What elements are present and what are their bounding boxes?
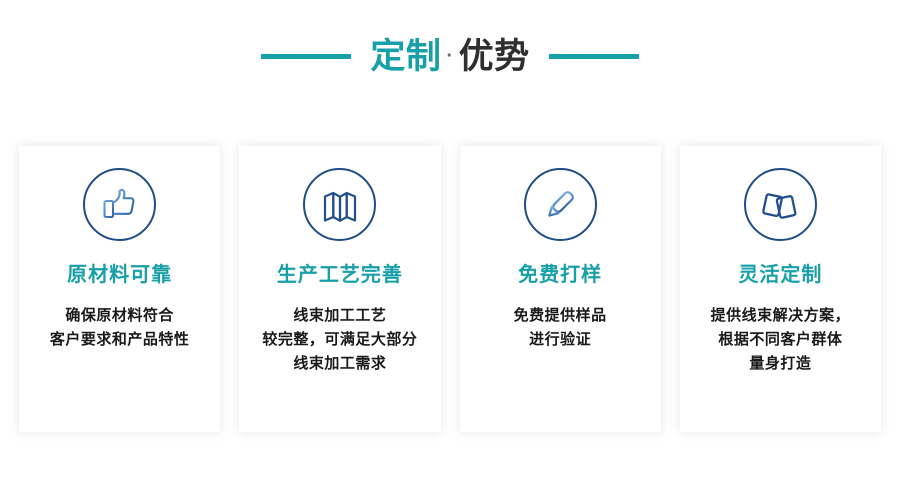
advantage-card-title: 免费打样 [518, 265, 602, 285]
advantage-card-title: 原材料可靠 [67, 265, 172, 285]
folded-map-icon [303, 168, 376, 241]
pencil-icon [524, 168, 597, 241]
page-title-separator: · [441, 46, 458, 66]
advantage-card-title: 生产工艺完善 [277, 265, 403, 285]
page-title-dark: 优势 [459, 39, 530, 74]
advantage-card[interactable]: 灵活定制 提供线束解决方案， 根据不同客户群体 量身打造 [680, 146, 881, 432]
advantage-card[interactable]: 免费打样 免费提供样品 进行验证 [460, 146, 661, 432]
advantage-card-body-line: 量身打造 [711, 352, 851, 376]
rule-left-decoration [261, 54, 351, 59]
advantage-card-body: 免费提供样品 进行验证 [514, 304, 607, 352]
advantage-card-body-line: 客户要求和产品特性 [50, 328, 190, 352]
advantage-card-body: 确保原材料符合 客户要求和产品特性 [50, 304, 190, 352]
advantage-card-body-line: 提供线束解决方案， [711, 304, 851, 328]
advantage-card-list: 原材料可靠 确保原材料符合 客户要求和产品特性 生产工艺完善 线束加工工艺 较完… [19, 146, 881, 432]
advantage-card-title: 灵活定制 [738, 265, 822, 285]
customization-advantages-section: 定制 · 优势 原材料可靠 [0, 0, 900, 499]
stacked-cards-icon [744, 168, 817, 241]
advantage-card-body-line: 免费提供样品 [514, 304, 607, 328]
rule-right-decoration [549, 54, 639, 59]
page-title-accent: 定制 [370, 39, 441, 74]
advantage-card-body-line: 较完整，可满足大部分 [262, 328, 417, 352]
advantage-card-body: 线束加工工艺 较完整，可满足大部分 线束加工需求 [262, 304, 417, 376]
advantage-card-body: 提供线束解决方案， 根据不同客户群体 量身打造 [711, 304, 851, 376]
advantage-card-body-line: 根据不同客户群体 [711, 328, 851, 352]
advantage-card-body-line: 确保原材料符合 [50, 304, 190, 328]
section-header: 定制 · 优势 [0, 28, 900, 84]
advantage-card-body-line: 进行验证 [514, 328, 607, 352]
advantage-card-body-line: 线束加工需求 [262, 352, 417, 376]
page-title: 定制 · 优势 [370, 39, 529, 74]
advantage-card[interactable]: 原材料可靠 确保原材料符合 客户要求和产品特性 [19, 146, 220, 432]
advantage-card-body-line: 线束加工工艺 [262, 304, 417, 328]
thumbs-up-icon [83, 168, 156, 241]
advantage-card[interactable]: 生产工艺完善 线束加工工艺 较完整，可满足大部分 线束加工需求 [239, 146, 440, 432]
